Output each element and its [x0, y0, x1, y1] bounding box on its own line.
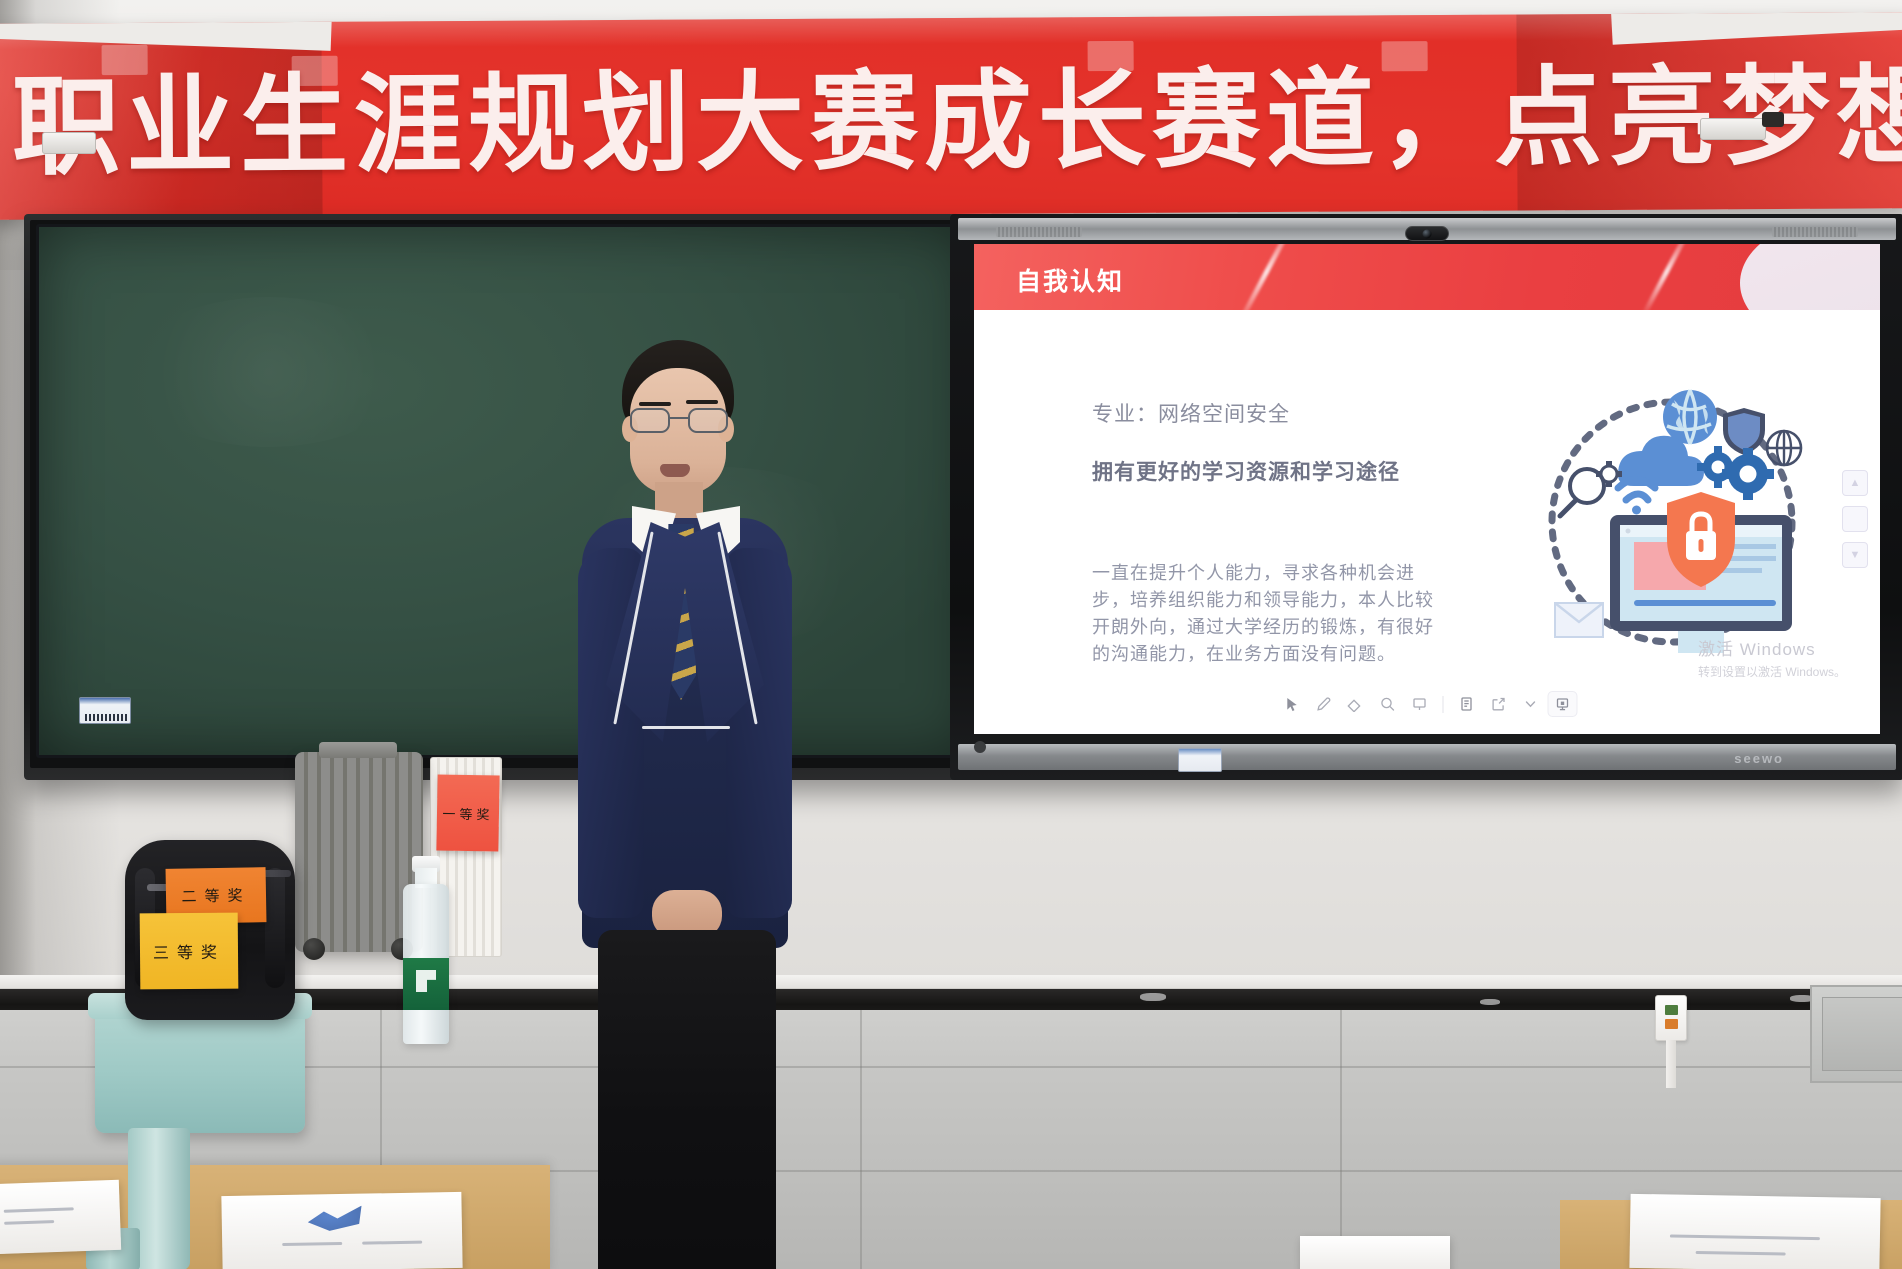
eraser-icon[interactable]	[1341, 691, 1371, 717]
equipment-sticker	[79, 697, 131, 724]
display-top-bezel	[958, 218, 1896, 240]
display-asset-label	[1178, 748, 1222, 772]
prize-card-first: 一等奖	[436, 774, 499, 851]
document-logo	[308, 1206, 362, 1233]
slide-toolbar[interactable]	[1269, 686, 1586, 722]
envelope-icon	[1555, 603, 1603, 637]
banner-mount-bracket	[1762, 112, 1784, 127]
slide-major-line: 专业：网络空间安全	[1092, 398, 1290, 428]
display-screen[interactable]: 自我认知 专业：网络空间安全 拥有更好的学习资源和学习途径 一直在提升个人能力，…	[974, 244, 1880, 734]
glasses-lens	[688, 408, 728, 433]
speaker-grille	[996, 227, 1082, 237]
interactive-display[interactable]: 自我认知 专业：网络空间安全 拥有更好的学习资源和学习途径 一直在提升个人能力，…	[950, 214, 1902, 780]
globe-icon	[1663, 390, 1717, 444]
magnifier-icon[interactable]	[1373, 691, 1403, 717]
glasses-icon	[630, 408, 728, 434]
presentation-slide[interactable]: 自我认知 专业：网络空间安全 拥有更好的学习资源和学习途径 一直在提升个人能力，…	[974, 244, 1880, 734]
slide-scroll-controls[interactable]: ▲ ▼	[1842, 470, 1868, 578]
bottle-label	[403, 958, 449, 1010]
switch-conduit	[1666, 1040, 1676, 1088]
baseboard-fleck	[1480, 999, 1500, 1005]
shield-icon	[1723, 408, 1765, 455]
share-icon[interactable]	[1484, 691, 1514, 717]
storage-bin	[95, 1003, 305, 1133]
glasses-lens	[630, 408, 670, 433]
prize-card-third: 三等奖	[140, 913, 239, 990]
screen-icon[interactable]	[1405, 691, 1435, 717]
paper-stack	[1300, 1236, 1450, 1269]
pointer-icon[interactable]	[1277, 691, 1307, 717]
banner-text: 职业生涯规划大赛成长赛道，点亮梦想，职通未来	[0, 58, 1900, 188]
presenter-eyebrow	[686, 400, 718, 404]
glasses-bridge	[670, 417, 688, 419]
chalk-smudge	[129, 297, 409, 447]
paper-text-line	[362, 1241, 422, 1245]
suitcase-caster	[303, 938, 325, 960]
slide-header: 自我认知	[974, 244, 1880, 310]
wall-switch-panel[interactable]	[1655, 995, 1687, 1041]
slide-title: 自我认知	[1016, 262, 1124, 298]
baseboard-fleck	[1140, 993, 1166, 1001]
student-presenter	[560, 330, 810, 1269]
wall-access-panel	[1810, 985, 1902, 1083]
slide-paragraph: 一直在提升个人能力，寻求各种机会进步，培养组织能力和领导能力，本人比较开朗外向，…	[1092, 560, 1444, 668]
slide-subtitle-line: 拥有更好的学习资源和学习途径	[1092, 456, 1400, 486]
banner-mount-clip	[42, 132, 96, 154]
present-icon[interactable]	[1548, 691, 1578, 717]
header-light-streak	[1641, 244, 1692, 310]
speaker-grille	[1772, 227, 1858, 237]
paper-stack	[1629, 1194, 1880, 1269]
display-brand: seewo	[1734, 751, 1784, 766]
suitcase-handle	[319, 742, 397, 758]
blazer-piping	[642, 726, 730, 729]
paper-text-line	[282, 1242, 342, 1246]
paper-stack	[0, 1180, 121, 1254]
header-light-streak	[1236, 244, 1297, 310]
pen-icon[interactable]	[1309, 691, 1339, 717]
paper-text-line	[1696, 1251, 1786, 1256]
scroll-down-button[interactable]: ▼	[1842, 542, 1868, 568]
scroll-thumb[interactable]	[1842, 506, 1868, 532]
chalkboard	[36, 224, 974, 758]
camera-icon	[1405, 226, 1449, 241]
globe-wire-icon	[1767, 431, 1801, 465]
paper-text-line	[4, 1220, 54, 1225]
power-indicator[interactable]	[974, 741, 986, 753]
banner-mount-clip	[1700, 118, 1766, 140]
presenter-trousers	[598, 930, 776, 1269]
cyber-security-illustration	[1522, 370, 1822, 670]
classroom-scene: 职业生涯规划大赛成长赛道，点亮梦想，职通未来 自我认知	[0, 0, 1902, 1269]
header-corner-curve	[1740, 244, 1880, 310]
scroll-up-button[interactable]: ▲	[1842, 470, 1868, 496]
gear-icon	[1722, 448, 1774, 500]
presenter-eyebrow	[639, 402, 671, 406]
paper-text-line	[1670, 1235, 1820, 1241]
paper-stack	[221, 1192, 462, 1269]
paper-text-line	[4, 1207, 74, 1212]
toolbar-divider	[1443, 696, 1444, 713]
presenter-mouth	[660, 464, 690, 477]
chevron-down-icon[interactable]	[1516, 691, 1546, 717]
notes-icon[interactable]	[1452, 691, 1482, 717]
backpack-strap	[265, 868, 285, 988]
floor-tile-seam	[1340, 1010, 1342, 1269]
floor-tile-seam	[860, 1010, 862, 1269]
slide-body: 专业：网络空间安全 拥有更好的学习资源和学习途径 一直在提升个人能力，寻求各种机…	[974, 310, 1880, 734]
competition-banner: 职业生涯规划大赛成长赛道，点亮梦想，职通未来	[0, 12, 1902, 220]
